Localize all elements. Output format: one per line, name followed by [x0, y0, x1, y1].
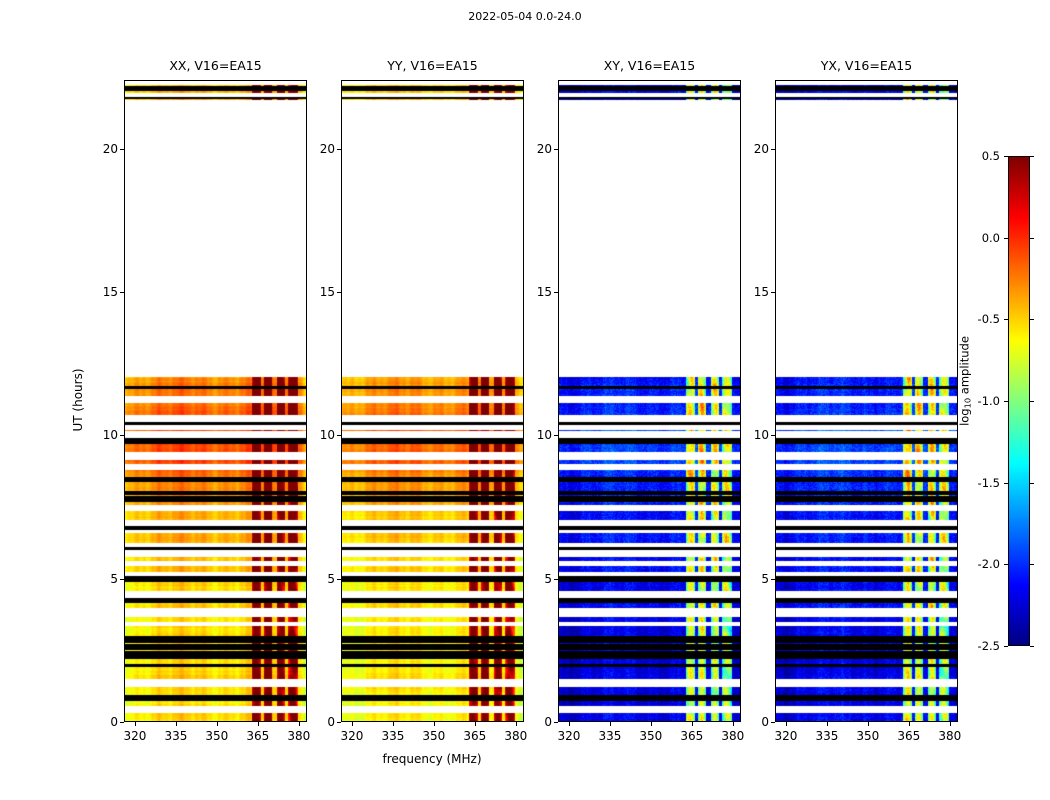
y-tick-label: 10	[526, 428, 552, 442]
x-tick-mark	[786, 722, 787, 726]
waterfall-image-xy	[559, 81, 741, 722]
y-tick-mark	[554, 292, 558, 293]
x-axis-label: frequency (MHz)	[382, 752, 481, 766]
y-tick-label: 20	[309, 142, 335, 156]
y-tick-label: 15	[743, 285, 769, 299]
colorbar-tick-label: 0.5	[964, 149, 1000, 163]
y-tick-mark	[771, 722, 775, 723]
y-tick-label: 10	[743, 428, 769, 442]
waterfall-image-yx	[776, 81, 958, 722]
x-tick-label: 350	[639, 729, 662, 743]
x-tick-mark	[610, 722, 611, 726]
y-tick-label: 5	[309, 572, 335, 586]
y-tick-label: 5	[526, 572, 552, 586]
x-tick-mark	[393, 722, 394, 726]
y-tick-label: 0	[526, 715, 552, 729]
x-tick-label: 335	[815, 729, 838, 743]
colorbar-tick-label: -0.5	[964, 312, 1000, 326]
y-tick-mark	[554, 579, 558, 580]
y-tick-mark	[771, 149, 775, 150]
x-tick-label: 320	[123, 729, 146, 743]
x-tick-label: 335	[164, 729, 187, 743]
colorbar-tick-mark	[1030, 483, 1034, 484]
y-tick-mark	[771, 292, 775, 293]
x-tick-mark	[217, 722, 218, 726]
y-tick-label: 15	[526, 285, 552, 299]
x-tick-label: 335	[381, 729, 404, 743]
y-tick-label: 10	[92, 428, 118, 442]
waterfall-panel-yx	[775, 80, 958, 722]
colorbar-tick-mark	[1030, 564, 1034, 565]
colorbar	[1008, 156, 1030, 646]
y-tick-mark	[771, 579, 775, 580]
y-tick-mark	[120, 149, 124, 150]
colorbar-tick-mark	[1004, 156, 1008, 157]
x-tick-mark	[352, 722, 353, 726]
y-tick-mark	[337, 579, 341, 580]
colorbar-tick-label: -2.5	[964, 639, 1000, 653]
y-tick-mark	[337, 292, 341, 293]
x-tick-mark	[827, 722, 828, 726]
x-tick-mark	[434, 722, 435, 726]
y-tick-mark	[554, 435, 558, 436]
colorbar-tick-label: 0.0	[964, 231, 1000, 245]
x-tick-mark	[733, 722, 734, 726]
x-tick-label: 320	[557, 729, 580, 743]
waterfall-panel-xy	[558, 80, 741, 722]
x-tick-label: 365	[246, 729, 269, 743]
colorbar-tick-mark	[1030, 156, 1034, 157]
colorbar-tick-mark	[1030, 646, 1034, 647]
colorbar-tick-mark	[1030, 319, 1034, 320]
colorbar-label: log10 amplitude	[957, 336, 972, 426]
x-tick-label: 320	[340, 729, 363, 743]
x-tick-label: 380	[938, 729, 961, 743]
y-tick-label: 20	[743, 142, 769, 156]
colorbar-gradient	[1009, 157, 1030, 646]
figure-title: 2022-05-04 0.0-24.0	[0, 10, 1050, 23]
colorbar-tick-mark	[1030, 238, 1034, 239]
y-tick-mark	[554, 149, 558, 150]
waterfall-panel-xx	[124, 80, 307, 722]
x-tick-mark	[651, 722, 652, 726]
panel-title-yy: YY, V16=EA15	[341, 58, 524, 73]
colorbar-tick-mark	[1004, 564, 1008, 565]
y-tick-label: 20	[526, 142, 552, 156]
x-tick-mark	[909, 722, 910, 726]
x-tick-mark	[135, 722, 136, 726]
y-tick-label: 5	[92, 572, 118, 586]
y-tick-label: 15	[309, 285, 335, 299]
y-tick-label: 20	[92, 142, 118, 156]
colorbar-tick-mark	[1030, 401, 1034, 402]
x-tick-label: 365	[897, 729, 920, 743]
y-tick-mark	[337, 149, 341, 150]
x-tick-label: 350	[205, 729, 228, 743]
waterfall-image-xx	[125, 81, 307, 722]
x-tick-mark	[868, 722, 869, 726]
colorbar-tick-mark	[1004, 646, 1008, 647]
y-tick-label: 0	[92, 715, 118, 729]
x-tick-label: 320	[774, 729, 797, 743]
y-tick-mark	[337, 722, 341, 723]
x-tick-label: 380	[721, 729, 744, 743]
x-tick-label: 350	[856, 729, 879, 743]
x-tick-label: 350	[422, 729, 445, 743]
y-tick-label: 0	[743, 715, 769, 729]
x-tick-label: 335	[598, 729, 621, 743]
colorbar-tick-mark	[1004, 238, 1008, 239]
y-tick-mark	[120, 435, 124, 436]
panel-title-xy: XY, V16=EA15	[558, 58, 741, 73]
y-tick-label: 0	[309, 715, 335, 729]
x-tick-mark	[258, 722, 259, 726]
y-tick-label: 5	[743, 572, 769, 586]
x-tick-mark	[569, 722, 570, 726]
y-tick-label: 10	[309, 428, 335, 442]
x-tick-label: 365	[463, 729, 486, 743]
x-tick-label: 380	[504, 729, 527, 743]
y-tick-mark	[120, 579, 124, 580]
x-tick-mark	[475, 722, 476, 726]
colorbar-tick-label: -1.5	[964, 476, 1000, 490]
colorbar-tick-label: -2.0	[964, 557, 1000, 571]
panel-title-yx: YX, V16=EA15	[775, 58, 958, 73]
x-tick-mark	[692, 722, 693, 726]
colorbar-tick-mark	[1004, 401, 1008, 402]
waterfall-panel-yy	[341, 80, 524, 722]
y-axis-label: UT (hours)	[71, 368, 85, 431]
x-tick-mark	[176, 722, 177, 726]
colorbar-tick-mark	[1004, 319, 1008, 320]
y-tick-mark	[120, 722, 124, 723]
y-tick-mark	[337, 435, 341, 436]
y-tick-mark	[771, 435, 775, 436]
x-tick-mark	[950, 722, 951, 726]
x-tick-label: 365	[680, 729, 703, 743]
x-tick-mark	[299, 722, 300, 726]
x-tick-mark	[516, 722, 517, 726]
y-tick-mark	[554, 722, 558, 723]
panel-title-xx: XX, V16=EA15	[124, 58, 307, 73]
waterfall-image-yy	[342, 81, 524, 722]
x-tick-label: 380	[287, 729, 310, 743]
colorbar-tick-mark	[1004, 483, 1008, 484]
y-tick-mark	[120, 292, 124, 293]
y-tick-label: 15	[92, 285, 118, 299]
